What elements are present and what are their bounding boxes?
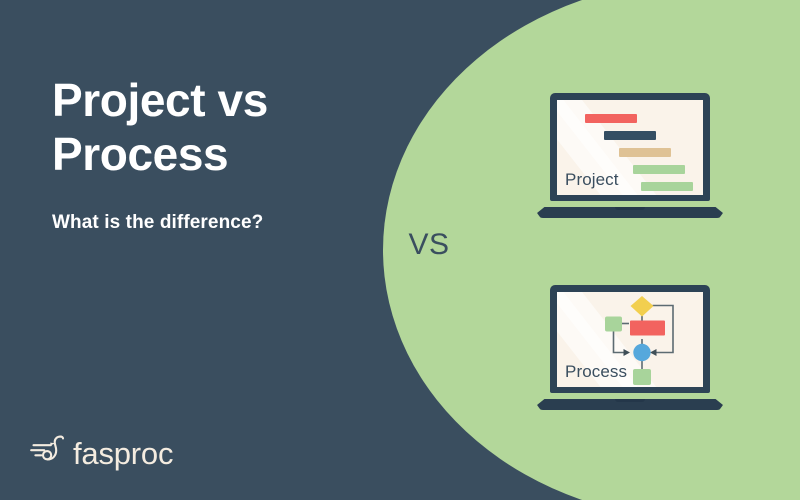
arrow-head-right-icon bbox=[650, 349, 657, 356]
page-subtitle: What is the difference? bbox=[52, 182, 372, 234]
brand-logo-text: fasproc bbox=[73, 438, 173, 469]
page-title: Project vs Process bbox=[52, 74, 372, 182]
decision-diamond bbox=[631, 296, 654, 317]
arrow-head-left-icon bbox=[624, 349, 631, 356]
green-blob-decoration bbox=[383, 0, 800, 500]
gantt-bar bbox=[604, 131, 656, 140]
laptop-screen: Project bbox=[557, 100, 703, 195]
brand-logo: fasproc bbox=[30, 432, 173, 475]
laptop-base-notch-icon bbox=[615, 207, 645, 210]
swan-logo-icon bbox=[30, 432, 70, 475]
laptop-base bbox=[537, 399, 723, 410]
laptop-lid: Project bbox=[550, 93, 710, 201]
hero-text-block: Project vs Process What is the differenc… bbox=[52, 74, 372, 234]
slide-canvas: Project vs Process What is the differenc… bbox=[0, 0, 800, 500]
input-square bbox=[605, 317, 622, 332]
laptop-lid: Process bbox=[550, 285, 710, 393]
laptop-screen: Process bbox=[557, 292, 703, 387]
laptop-process: Process bbox=[537, 285, 723, 410]
merge-circle bbox=[633, 344, 650, 361]
laptop-base-notch-icon bbox=[615, 399, 645, 402]
screen-label-project: Project bbox=[565, 170, 619, 190]
screen-label-process: Process bbox=[565, 362, 627, 382]
output-square bbox=[633, 369, 651, 385]
laptop-base bbox=[537, 207, 723, 218]
gantt-bar bbox=[585, 114, 637, 123]
gantt-bar bbox=[633, 165, 685, 174]
task-rectangle bbox=[630, 321, 665, 336]
gantt-bar bbox=[619, 148, 671, 157]
laptop-project: Project bbox=[537, 93, 723, 218]
gantt-bar bbox=[641, 182, 693, 191]
